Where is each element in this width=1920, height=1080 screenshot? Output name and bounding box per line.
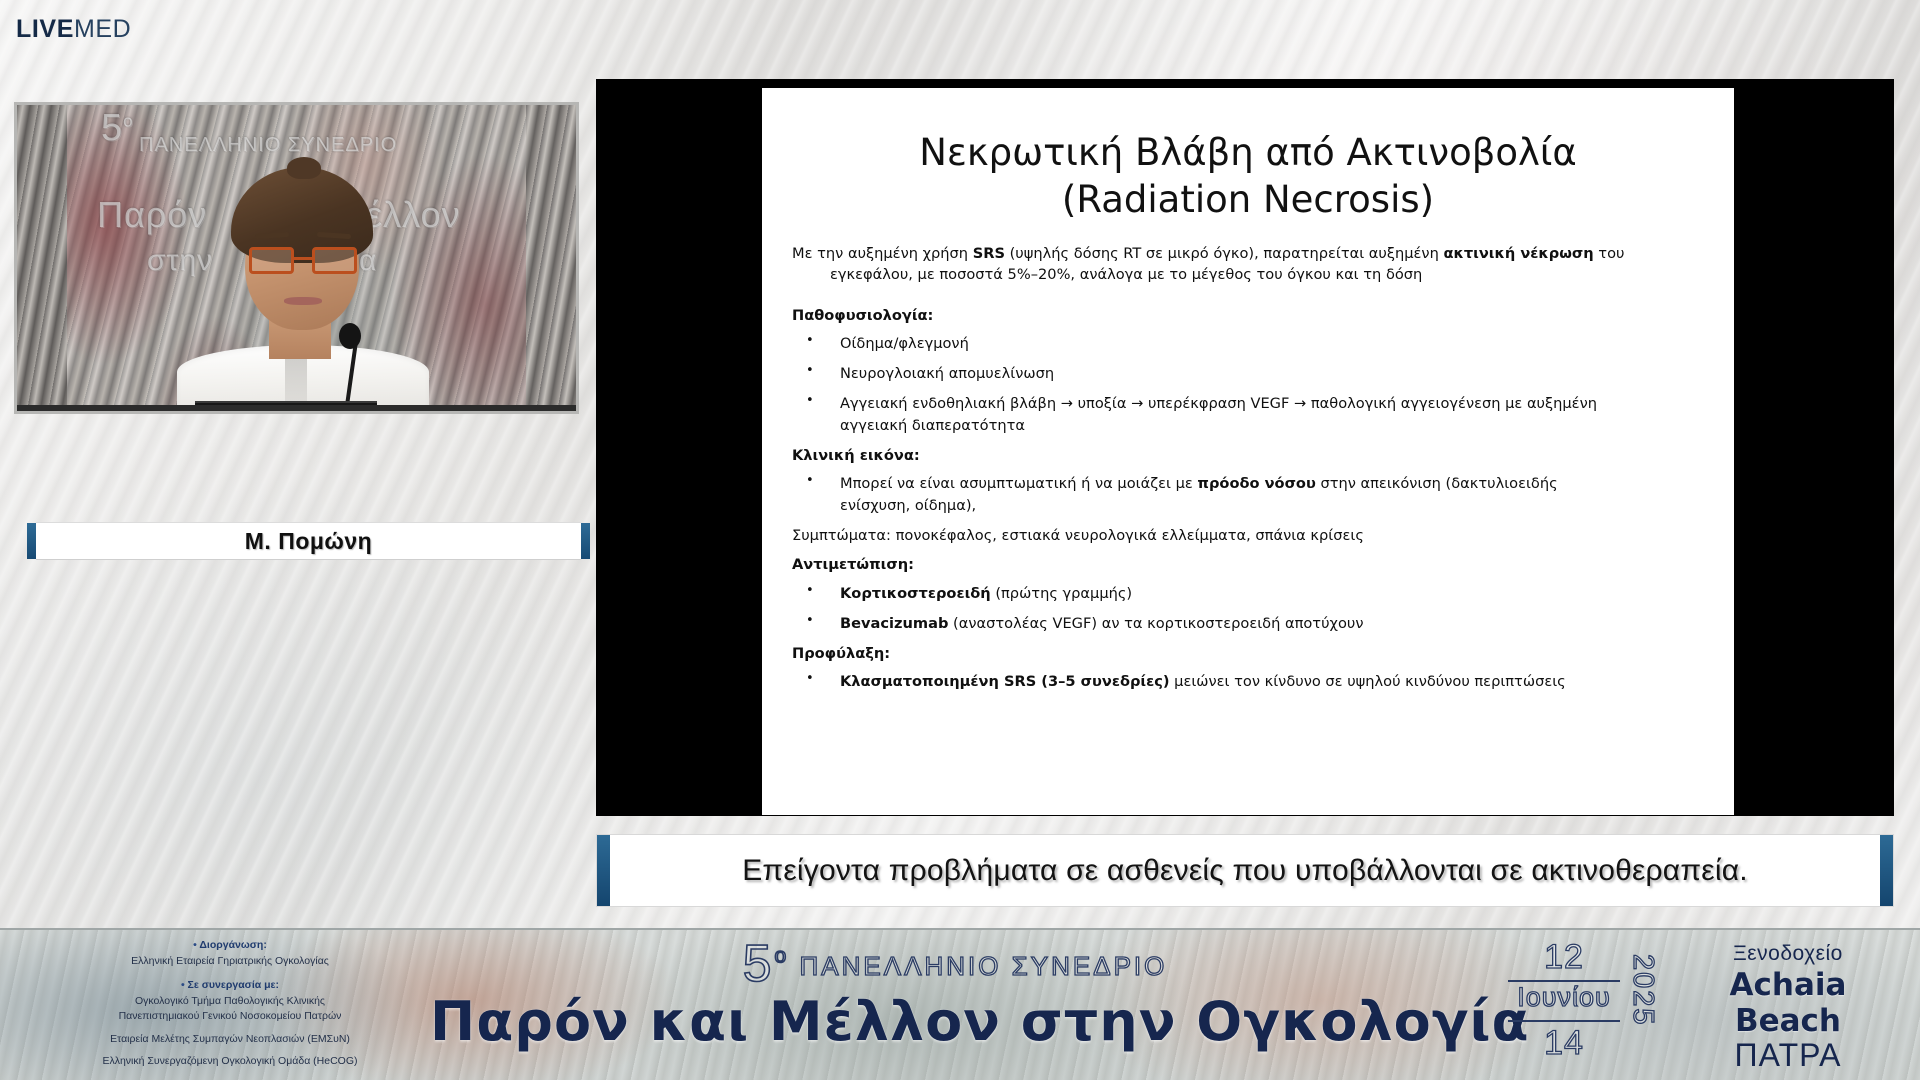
clinical-bullet-1-part-2: στην απεικόνιση (δακτυλιοειδής: [1316, 475, 1558, 492]
clinical-bullet-1-bold: πρόοδο νόσου: [1197, 475, 1315, 492]
management-list: Κορτικοστεροειδή (πρώτης γραμμής) Bevaci…: [792, 583, 1704, 635]
date-year: 2025: [1626, 954, 1659, 1027]
patho-bullet-3-line-1: Αγγειακή ενδοθηλιακή βλάβη → υποξία → υπ…: [840, 395, 1597, 412]
microphone-head: [339, 323, 361, 349]
podium-edge: [17, 405, 576, 411]
intro-bold-srs: SRS: [973, 245, 1005, 262]
slide-page: Νεκρωτική Βλάβη από Ακτινοβολία (Radiati…: [762, 88, 1734, 815]
speaker-hair-tuft: [287, 157, 321, 179]
banner-date-block: 12 Ιουνίου 14 2025: [1500, 940, 1700, 1070]
name-plate-accent-right: [581, 523, 590, 559]
prop-bullet-1-rest: μειώνει τον κίνδυνο σε υψηλού κινδύνου π…: [1170, 673, 1566, 690]
list-item: Νευρογλοιακή απομυελίνωση: [792, 363, 1704, 384]
list-item: Αγγειακή ενδοθηλιακή βλάβη → υποξία → υπ…: [792, 393, 1704, 436]
date-day-from: 12: [1500, 938, 1628, 977]
venue-hotel-name: Achaia Beach: [1672, 967, 1904, 1039]
collaborator-1-line-1: Ογκολογικό Τμήμα Παθολογικής Κλινικής: [30, 994, 430, 1010]
heading-clinical-picture: Κλινική εικόνα:: [792, 445, 1704, 466]
intro-text-part-3: του: [1594, 245, 1625, 262]
heading-pathophysiology: Παθοφυσιολογία:: [792, 305, 1704, 326]
mgmt-bullet-2-rest: (αναστολέας VEGF) αν τα κορτικοστεροειδή…: [948, 615, 1363, 632]
speaker-video-frame-content: 5ο ΠΑΝΕΛΛΗΝΙΟ ΣΥΝΕΔΡΙΟ Παρόν Μέλλον στην…: [17, 105, 576, 411]
heading-prophylaxis: Προφύλαξη:: [792, 643, 1704, 664]
intro-bold-necrosis: ακτινική νέκρωση: [1443, 245, 1593, 262]
slide-title-line-2: (Radiation Necrosis): [762, 177, 1734, 224]
backdrop-word-paron: Παρόν: [97, 194, 207, 236]
speaker-mouth: [284, 297, 322, 305]
collaborator-1-line-2: Πανεπιστημιακού Γενικού Νοσοκομείου Πατρ…: [30, 1009, 430, 1025]
session-title-bar: Επείγοντα προβλήματα σε ασθενείς που υπο…: [596, 834, 1894, 907]
heading-management: Αντιμετώπιση:: [792, 554, 1704, 575]
intro-line-2: εγκεφάλου, με ποσοστά 5%–20%, ανάλογα με…: [792, 264, 1704, 285]
collaboration-label: Σε συνεργασία με:: [30, 978, 430, 994]
collaborator-3: Ελληνική Συνεργαζόμενη Ογκολογική Ομάδα …: [30, 1054, 430, 1070]
banner-congress-line: 5ο ΠΑΝΕΛΛΗΝΙΟ ΣΥΝΕΔΡΙΟ: [430, 934, 1480, 994]
glasses-lens-left: [249, 247, 294, 274]
livemed-logo[interactable]: LIVEMED: [16, 17, 131, 42]
venue-city: ΠΑΤΡΑ: [1672, 1037, 1904, 1074]
slide-title: Νεκρωτική Βλάβη από Ακτινοβολία (Radiati…: [762, 130, 1734, 224]
patho-bullet-1-text: Οίδημα/φλεγμονή: [840, 335, 969, 352]
banner-congress-text: ΠΑΝΕΛΛΗΝΙΟ ΣΥΝΕΔΡΙΟ: [799, 951, 1167, 981]
speaker-panel[interactable]: 5ο ΠΑΝΕΛΛΗΝΙΟ ΣΥΝΕΔΡΙΟ Παρόν Μέλλον στην…: [14, 102, 579, 414]
slide-content: Νεκρωτική Βλάβη από Ακτινοβολία (Radiati…: [762, 88, 1734, 815]
list-item: Bevacizumab (αναστολέας VEGF) αν τα κορτ…: [792, 613, 1704, 634]
pathophysiology-list: Οίδημα/φλεγμονή Νευρογλοιακή απομυελίνωσ…: [792, 333, 1704, 436]
name-plate-accent-left: [27, 523, 36, 559]
patho-bullet-2-text: Νευρογλοιακή απομυελίνωση: [840, 365, 1054, 382]
clinical-bullet-1-line-2: ενίσχυση, οίδημα),: [840, 495, 1704, 516]
backdrop-ordinal: 5ο: [101, 107, 134, 150]
list-item: Οίδημα/φλεγμονή: [792, 333, 1704, 354]
date-month: Ιουνίου: [1500, 982, 1628, 1013]
speaker-name-plate: Μ. Πομώνη: [36, 522, 581, 560]
mgmt-bullet-1-bold: Κορτικοστεροειδή: [840, 585, 991, 602]
clinical-bullet-1-part-1: Μπορεί να είναι ασυμπτωματική ή να μοιάζ…: [840, 475, 1197, 492]
backdrop-left-panel: [17, 105, 67, 411]
conference-banner: Διοργάνωση: Ελληνική Εταιρεία Γηριατρική…: [0, 928, 1920, 1080]
glasses-lens-right: [312, 247, 357, 274]
collaborator-2: Εταιρεία Μελέτης Συμπαγών Νεοπλασιών (ΕΜ…: [30, 1032, 430, 1048]
logo-med-text: MED: [74, 15, 131, 43]
slide-intro-paragraph: Με την αυξημένη χρήση SRS (υψηλής δόσης …: [792, 243, 1704, 286]
organizer-name: Ελληνική Εταιρεία Γηριατρικής Ογκολογίας: [30, 954, 430, 970]
session-title: Επείγοντα προβλήματα σε ασθενείς που υπο…: [597, 835, 1893, 906]
list-item: Κλασματοποιημένη SRS (3–5 συνεδρίες) μει…: [792, 671, 1704, 692]
backdrop-congress-line: ΠΑΝΕΛΛΗΝΙΟ ΣΥΝΕΔΡΙΟ: [139, 134, 397, 157]
backdrop-ordinal-number: 5: [101, 107, 123, 149]
banner-congress-title: 5ο ΠΑΝΕΛΛΗΝΙΟ ΣΥΝΕΔΡΙΟ Παρόν και Μέλλον …: [430, 934, 1480, 1053]
banner-main-title: Παρόν και Μέλλον στην Ογκολογία: [430, 990, 1480, 1053]
banner-ordinal: 5ο: [743, 935, 790, 993]
backdrop-right-panel: [526, 105, 576, 411]
banner-venue-block: Ξενοδοχείο Achaia Beach ΠΑΤΡΑ: [1672, 942, 1904, 1074]
mgmt-bullet-1-rest: (πρώτης γραμμής): [991, 585, 1132, 602]
backdrop-ordinal-suffix: ο: [123, 111, 133, 130]
slide-viewer[interactable]: Νεκρωτική Βλάβη από Ακτινοβολία (Radiati…: [596, 79, 1894, 816]
glasses-bridge: [294, 257, 312, 260]
slide-title-line-1: Νεκρωτική Βλάβη από Ακτινοβολία: [762, 130, 1734, 177]
symptoms-line: Συμπτώματα: πονοκέφαλος, εστιακά νευρολο…: [792, 525, 1704, 546]
banner-ordinal-suffix: ο: [775, 945, 790, 968]
mgmt-bullet-2-bold: Bevacizumab: [840, 615, 948, 632]
patho-bullet-3-line-2: αγγειακή διαπερατότητα: [840, 415, 1704, 436]
speaker-video[interactable]: 5ο ΠΑΝΕΛΛΗΝΙΟ ΣΥΝΕΔΡΙΟ Παρόν Μέλλον στην…: [14, 102, 579, 414]
banner-ordinal-number: 5: [743, 935, 775, 993]
clinical-list: Μπορεί να είναι ασυμπτωματική ή να μοιάζ…: [792, 473, 1704, 516]
date-day-to: 14: [1500, 1024, 1628, 1063]
banner-organizers: Διοργάνωση: Ελληνική Εταιρεία Γηριατρική…: [30, 938, 430, 1070]
list-item: Μπορεί να είναι ασυμπτωματική ή να μοιάζ…: [792, 473, 1704, 516]
intro-text-part-1: Με την αυξημένη χρήση: [792, 245, 973, 262]
intro-text-part-2: (υψηλής δόσης RT σε μικρό όγκο), παρατηρ…: [1005, 245, 1444, 262]
organizer-label: Διοργάνωση:: [30, 938, 430, 954]
prop-bullet-1-bold: Κλασματοποιημένη SRS (3–5 συνεδρίες): [840, 673, 1170, 690]
prophylaxis-list: Κλασματοποιημένη SRS (3–5 συνεδρίες) μει…: [792, 671, 1704, 692]
date-rule-bottom: [1508, 1020, 1620, 1022]
slide-body: Με την αυξημένη χρήση SRS (υψηλής δόσης …: [792, 243, 1704, 702]
speaker-glasses: [249, 247, 357, 274]
speaker-name: Μ. Πομώνη: [245, 528, 372, 555]
backdrop-word-stin: στην: [147, 244, 213, 278]
venue-label: Ξενοδοχείο: [1672, 942, 1904, 966]
logo-live-text: LIVE: [16, 15, 74, 43]
list-item: Κορτικοστεροειδή (πρώτης γραμμής): [792, 583, 1704, 604]
